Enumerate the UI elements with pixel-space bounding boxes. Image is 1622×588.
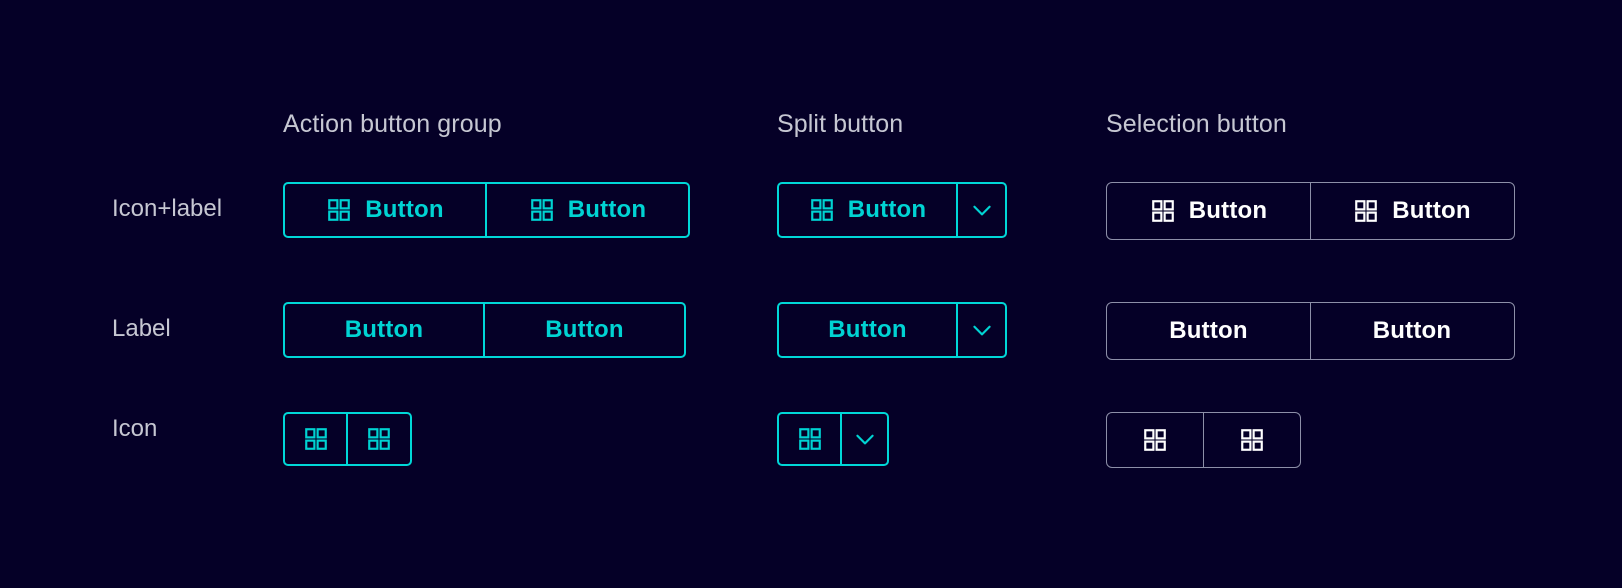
selection-button-label: Button <box>1169 317 1248 345</box>
grid-2x2-icon <box>1239 427 1265 453</box>
row-label-label: Label <box>112 315 171 343</box>
selection-button-label-2[interactable]: Button <box>1310 302 1515 360</box>
chevron-down-icon <box>969 197 995 223</box>
action-button-group-icon-label: Button Button <box>283 182 690 238</box>
split-button-caret-label[interactable] <box>957 302 1007 358</box>
specimen-board: Action button group Split button Selecti… <box>0 0 1622 588</box>
action-button-group-label: Button Button <box>283 302 686 358</box>
column-header-split-button: Split button <box>777 110 903 139</box>
selection-button-group-label: Button Button <box>1106 302 1515 360</box>
split-button-caret-icon-label[interactable] <box>957 182 1007 238</box>
selection-button-icon-label-2[interactable]: Button <box>1310 182 1515 240</box>
split-button-caret-icon[interactable] <box>841 412 889 466</box>
action-button-label-1[interactable]: Button <box>283 302 485 358</box>
column-header-selection-button: Selection button <box>1106 110 1287 139</box>
split-button-main-icon-label[interactable]: Button <box>777 182 958 238</box>
grid-2x2-icon <box>1142 427 1168 453</box>
selection-button-label: Button <box>1392 197 1471 225</box>
selection-button-label: Button <box>1373 317 1452 345</box>
grid-2x2-icon <box>366 426 392 452</box>
split-button-icon <box>777 412 889 466</box>
chevron-down-icon <box>969 317 995 343</box>
action-button-icon-label-1[interactable]: Button <box>283 182 487 238</box>
split-button-label: Button <box>777 302 1007 358</box>
selection-button-group-icon <box>1106 412 1301 468</box>
grid-2x2-icon <box>797 426 823 452</box>
action-button-icon-label-2[interactable]: Button <box>486 182 690 238</box>
row-label-icon-label: Icon+label <box>112 195 222 223</box>
action-button-label: Button <box>345 316 424 344</box>
selection-button-icon-2[interactable] <box>1203 412 1301 468</box>
selection-button-icon-1[interactable] <box>1106 412 1204 468</box>
split-button-label: Button <box>848 196 927 224</box>
selection-button-label-1[interactable]: Button <box>1106 302 1311 360</box>
split-button-icon-label: Button <box>777 182 1007 238</box>
action-button-icon-2[interactable] <box>347 412 412 466</box>
action-button-icon-1[interactable] <box>283 412 348 466</box>
column-header-action-button-group: Action button group <box>283 110 502 139</box>
chevron-down-icon <box>852 426 878 452</box>
action-button-label-2[interactable]: Button <box>484 302 686 358</box>
selection-button-icon-label-1[interactable]: Button <box>1106 182 1311 240</box>
row-label-icon: Icon <box>112 415 157 443</box>
action-button-label: Button <box>365 196 444 224</box>
selection-button-group-icon-label: Button Button <box>1106 182 1515 240</box>
grid-2x2-icon <box>1353 198 1379 224</box>
selection-button-label: Button <box>1189 197 1268 225</box>
grid-2x2-icon <box>809 197 835 223</box>
grid-2x2-icon <box>326 197 352 223</box>
action-button-label: Button <box>568 196 647 224</box>
action-button-group-icon <box>283 412 412 466</box>
split-button-label: Button <box>828 316 907 344</box>
split-button-main-label[interactable]: Button <box>777 302 958 358</box>
action-button-label: Button <box>545 316 624 344</box>
grid-2x2-icon <box>529 197 555 223</box>
split-button-main-icon[interactable] <box>777 412 842 466</box>
grid-2x2-icon <box>303 426 329 452</box>
grid-2x2-icon <box>1150 198 1176 224</box>
